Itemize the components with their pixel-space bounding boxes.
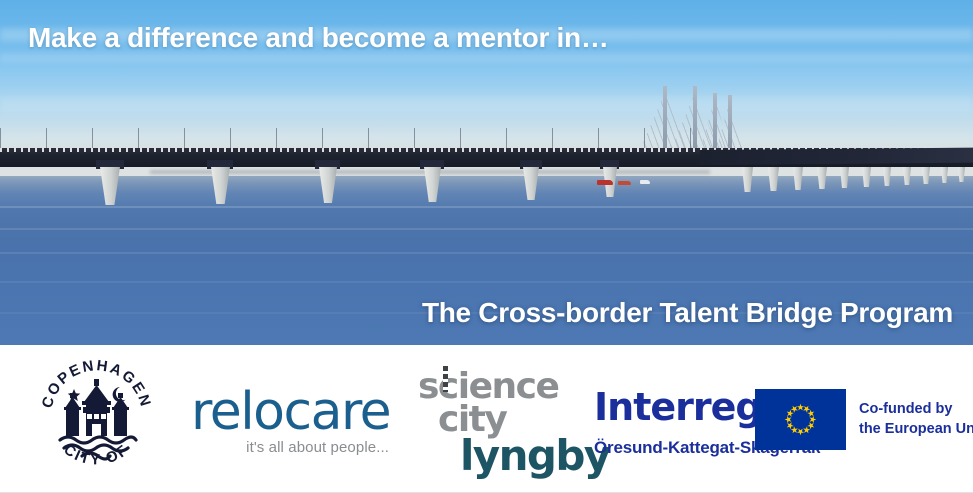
eu-funding-line-2: the European Union xyxy=(859,420,973,439)
partner-logo-bar: COPENHAGEN CITY OF xyxy=(0,345,973,492)
headline-secondary: The Cross-border Talent Bridge Program xyxy=(422,297,953,329)
science-city-tick-icon xyxy=(443,366,448,392)
boat xyxy=(640,180,650,184)
water-shimmer xyxy=(0,228,973,230)
boat xyxy=(597,180,613,185)
cloud-streak xyxy=(0,96,973,112)
water-shimmer xyxy=(0,252,973,254)
bridge-pylon xyxy=(716,100,744,150)
eu-flag-icon xyxy=(755,389,846,450)
pylon-mast xyxy=(728,95,732,150)
cloud-streak xyxy=(0,54,973,62)
water-shimmer xyxy=(0,206,973,208)
logo-city-of-copenhagen[interactable]: COPENHAGEN CITY OF xyxy=(34,354,159,479)
bridge-deck-far xyxy=(700,148,973,165)
eu-funding-line-1: Co-funded by xyxy=(859,400,973,419)
headline-primary: Make a difference and become a mentor in… xyxy=(28,22,609,54)
logo-european-union[interactable]: Co-funded by the European Union xyxy=(755,389,973,450)
relocare-wordmark: relocare xyxy=(191,388,391,437)
oresund-bridge-photo: Make a difference and become a mentor in… xyxy=(0,0,973,345)
logo-science-city-lyngby[interactable]: science city lyngby xyxy=(418,370,588,476)
eu-funding-text: Co-funded by the European Union xyxy=(859,400,973,438)
science-city-line-3: lyngby xyxy=(418,436,588,476)
program-banner: Make a difference and become a mentor in… xyxy=(0,0,973,493)
bridge-lamp-posts xyxy=(0,128,700,150)
logo-relocare[interactable]: relocare it's all about people... xyxy=(191,388,391,456)
boat xyxy=(618,181,631,185)
water-shimmer xyxy=(0,281,973,283)
